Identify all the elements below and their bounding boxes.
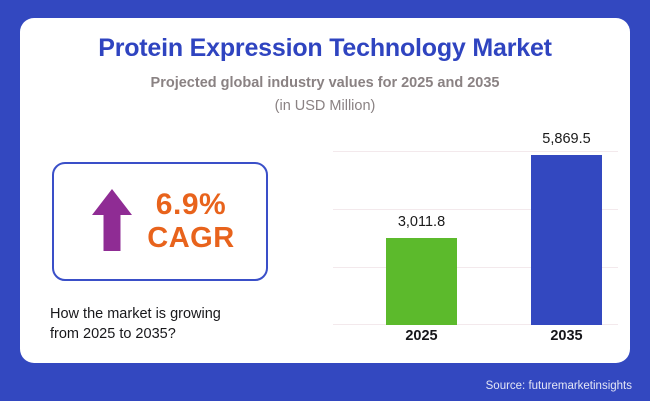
chart-plot-area: 3,011.85,869.5 <box>333 122 618 325</box>
infographic-root: Protein Expression Technology Market Pro… <box>0 0 650 401</box>
bar-chart: 3,011.85,869.5 2025 2035 <box>333 122 618 362</box>
cagr-callout-box: 6.9% CAGR <box>52 162 268 281</box>
content-card: Protein Expression Technology Market Pro… <box>20 18 630 363</box>
chart-bar-value-2035: 5,869.5 <box>506 131 627 147</box>
chart-bar-2025[interactable] <box>386 238 457 325</box>
page-subtitle: Projected global industry values for 202… <box>20 75 630 91</box>
chart-bar-2035[interactable] <box>531 155 602 325</box>
cagr-percent: 6.9% <box>156 188 226 222</box>
cagr-content: 6.9% CAGR <box>54 164 266 279</box>
page-subtitle-unit: (in USD Million) <box>20 98 630 114</box>
cagr-label: CAGR <box>147 222 234 254</box>
cagr-text-group: 6.9% CAGR <box>147 188 234 254</box>
chart-gridline <box>333 151 618 152</box>
page-title: Protein Expression Technology Market <box>20 34 630 63</box>
source-attribution: Source: futuremarketinsights <box>486 380 632 392</box>
chart-bar-value-2025: 3,011.8 <box>361 214 482 230</box>
x-axis-label-2035: 2035 <box>506 328 627 344</box>
x-axis-label-2025: 2025 <box>361 328 482 344</box>
up-arrow-icon <box>89 185 135 255</box>
growth-question-line1: How the market is growing <box>50 304 290 324</box>
growth-question: How the market is growing from 2025 to 2… <box>50 304 290 344</box>
growth-question-line2: from 2025 to 2035? <box>50 324 290 344</box>
